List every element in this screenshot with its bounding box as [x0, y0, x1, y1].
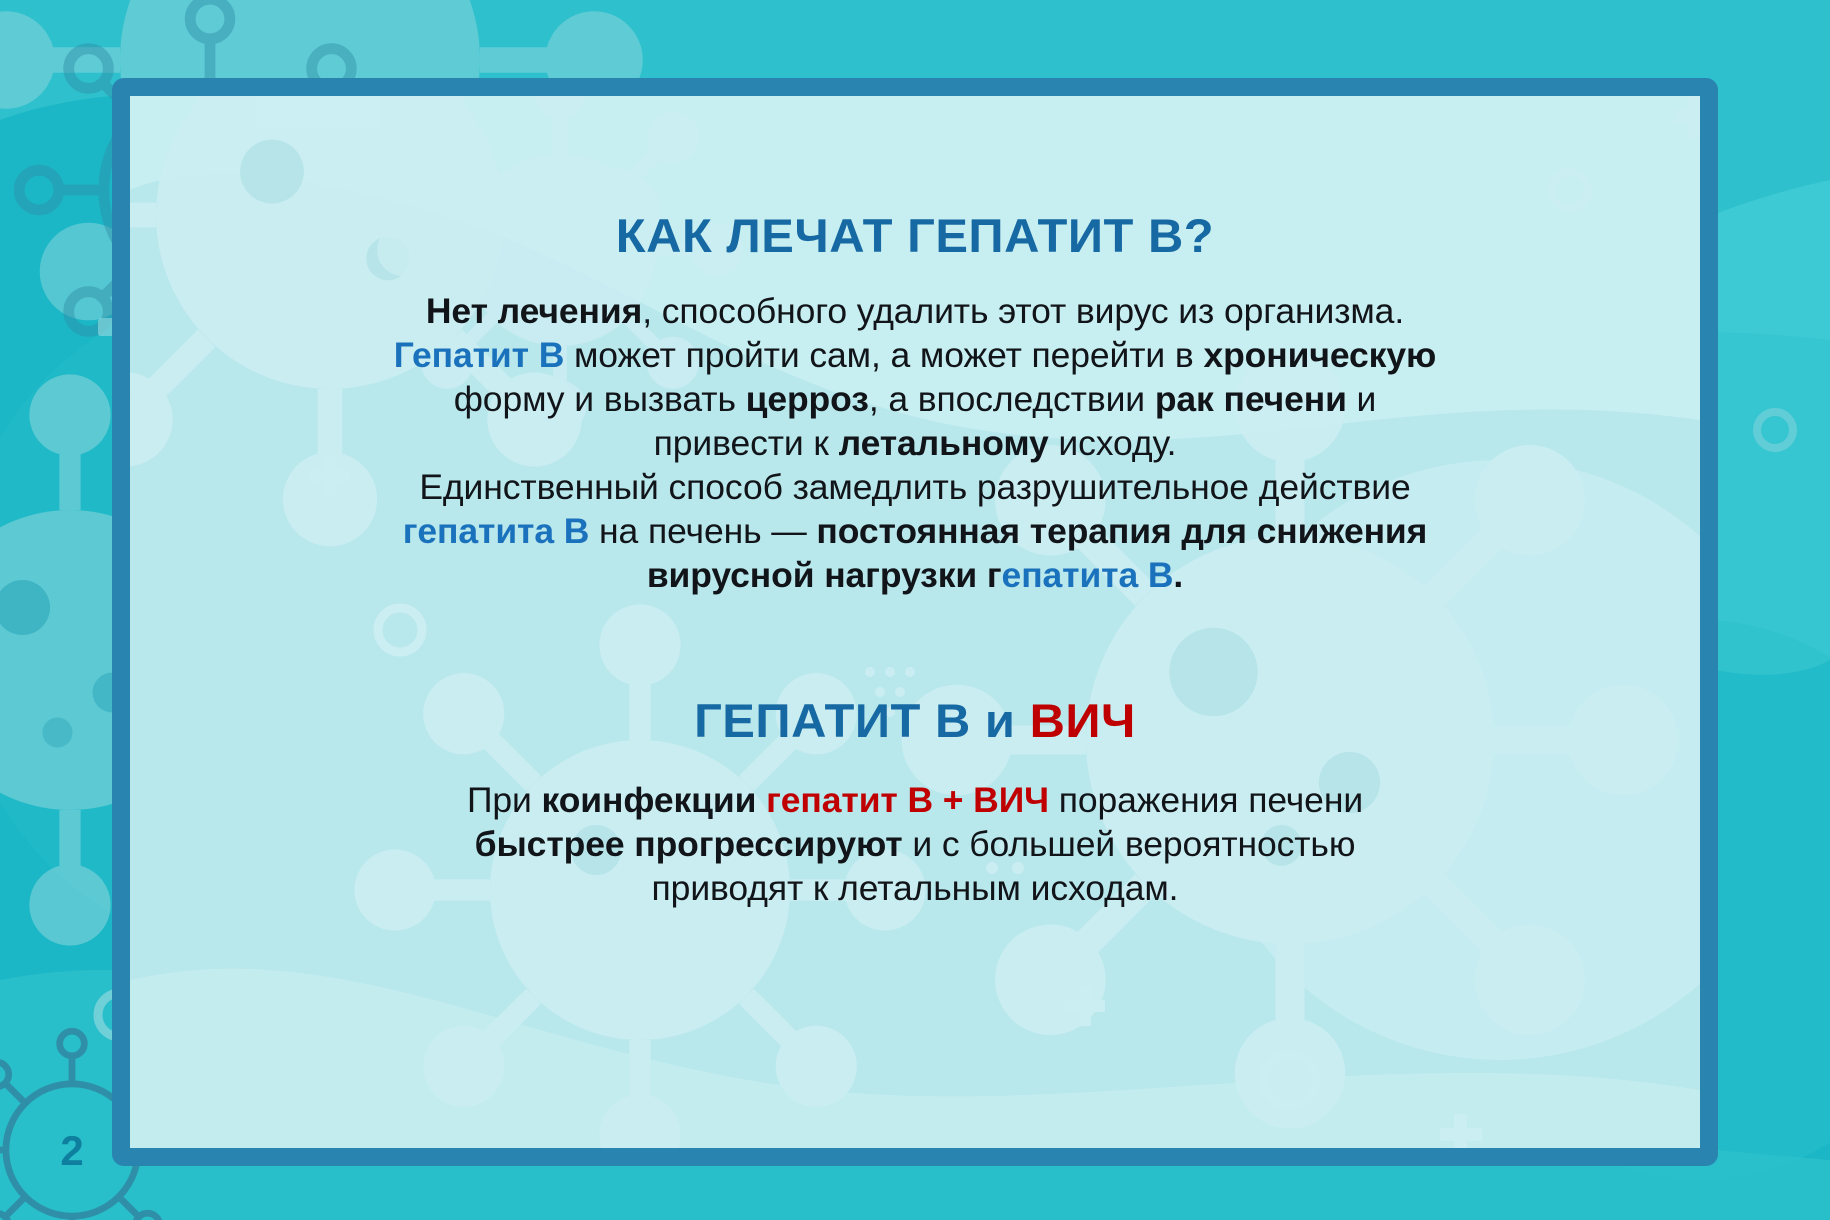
text-run: летальному [839, 423, 1049, 463]
text-run: поражения печени [1049, 780, 1363, 820]
text-run: При [467, 780, 542, 820]
text-run: приводят к летальным исходам. [652, 868, 1179, 908]
text-run: коинфекции [542, 780, 767, 820]
para-line: Нет лечения, способного удалить этот вир… [426, 291, 1404, 331]
slide-canvas: КАК ЛЕЧАТ ГЕПАТИТ B? Нет лечения, способ… [0, 0, 1830, 1220]
text-run: вирусной нагрузки [647, 555, 987, 595]
text-run: Гепатит B [394, 335, 564, 375]
page-number-badge: 2 [6, 1088, 138, 1220]
para-line: Единственный способ замедлить разрушител… [419, 467, 1410, 507]
section-two-paragraph: При коинфекции гепатит B + ВИЧ поражения… [220, 778, 1610, 910]
section-two-title-main: ГЕПАТИТ B и [694, 694, 1015, 747]
text-run: хроническую [1203, 335, 1436, 375]
text-run: привести к [654, 423, 839, 463]
text-run: Единственный способ замедлить разрушител… [419, 467, 1410, 507]
text-run: рак печени [1155, 379, 1347, 419]
para-line: приводят к летальным исходам. [652, 868, 1179, 908]
text-run: может пройти сам, а может перейти в [564, 335, 1203, 375]
section-one-paragraph: Нет лечения, способного удалить этот вир… [220, 289, 1610, 597]
text-run: исходу. [1049, 423, 1177, 463]
text-run: и с большей вероятностью [903, 824, 1356, 864]
text-run: епатита B [1002, 555, 1174, 595]
para-line: форму и вызвать церроз, а впоследствии р… [454, 379, 1377, 419]
text-run: г [987, 555, 1002, 595]
section-two-title-hiv: ВИЧ [1030, 694, 1136, 747]
text-run: на печень — [589, 511, 816, 551]
section-divider-space [220, 597, 1610, 693]
para-line: привести к летальному исходу. [654, 423, 1177, 463]
para-line: вирусной нагрузки гепатита B. [647, 555, 1183, 595]
section-one-title: КАК ЛЕЧАТ ГЕПАТИТ B? [192, 208, 1638, 263]
card-content: КАК ЛЕЧАТ ГЕПАТИТ B? Нет лечения, способ… [130, 96, 1700, 1148]
text-run: и [1347, 379, 1377, 419]
para-line: гепатита B на печень — постоянная терапи… [403, 511, 1428, 551]
para-line: При коинфекции гепатит B + ВИЧ поражения… [467, 780, 1363, 820]
text-run: гепатит B + ВИЧ [766, 780, 1049, 820]
text-run: Нет лечения [426, 291, 642, 331]
page-number: 2 [6, 1088, 138, 1220]
text-run: . [1173, 555, 1183, 595]
text-run: быстрее прогрессируют [475, 824, 903, 864]
text-run: гепатита B [403, 511, 590, 551]
text-run: церроз [746, 379, 869, 419]
text-run: постоянная терапия для снижения [816, 511, 1427, 551]
text-run: форму и вызвать [454, 379, 746, 419]
para-line: быстрее прогрессируют и с большей вероят… [475, 824, 1356, 864]
text-run: , способного удалить этот вирус из орган… [642, 291, 1404, 331]
para-line: Гепатит B может пройти сам, а может пере… [394, 335, 1436, 375]
content-card: КАК ЛЕЧАТ ГЕПАТИТ B? Нет лечения, способ… [112, 78, 1718, 1166]
section-two-title: ГЕПАТИТ B и ВИЧ [192, 693, 1638, 748]
text-run: , а впоследствии [869, 379, 1155, 419]
